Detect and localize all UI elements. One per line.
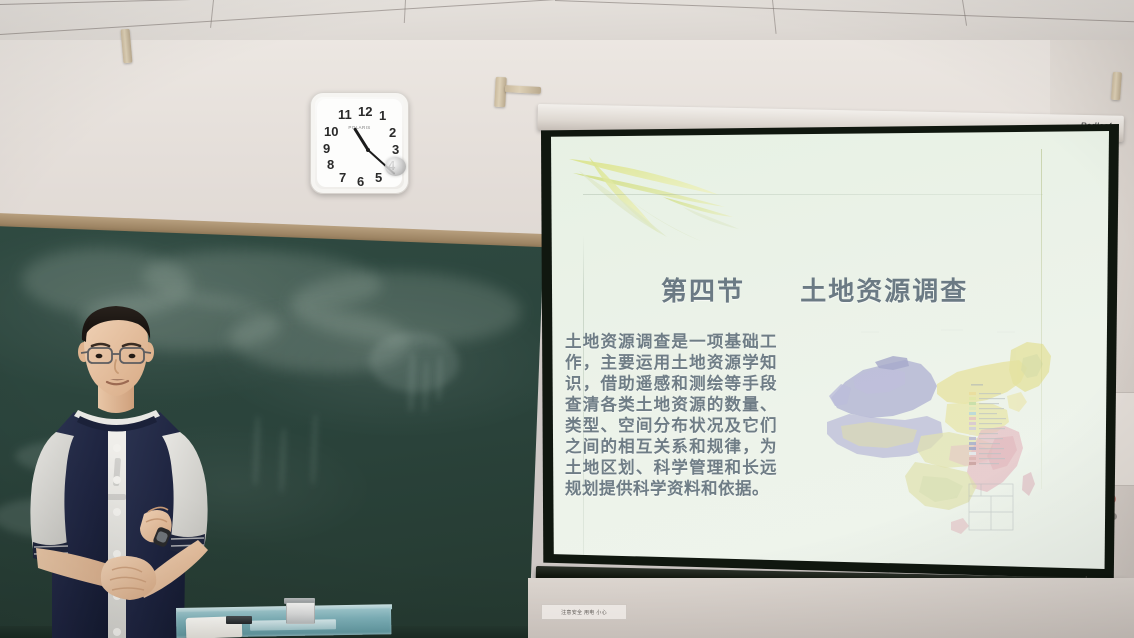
wall-clock: POLARIS 12 1 2 3 4 5 6 7 8 9 10 11	[310, 92, 409, 194]
wall-notice-sign: 注意安全 用电 小心	[541, 604, 627, 620]
ceiling-hook-right	[1111, 72, 1122, 101]
leaf-decoration-icon	[563, 145, 773, 250]
chalk-box[interactable]	[286, 602, 315, 624]
ceiling-hook-mid	[494, 77, 507, 108]
china-map-svg	[801, 326, 1069, 556]
clock-number-1: 1	[379, 109, 386, 122]
clock-number-9: 9	[323, 142, 330, 155]
clock-face: POLARIS 12 1 2 3 4 5 6 7 8 9 10 11	[317, 99, 402, 187]
presentation-slide: 第四节 土地资源调查 土地资源调查是一项基础工作，主要运用土地资源学知识，借助遥…	[551, 131, 1109, 569]
clock-number-3: 3	[392, 143, 399, 156]
clock-number-11: 11	[338, 108, 352, 121]
slide-title: 第四节 土地资源调查	[661, 271, 1081, 308]
clock-brand: POLARIS	[348, 125, 370, 130]
clock-number-6: 6	[357, 175, 364, 188]
china-land-resource-map	[801, 326, 1069, 556]
blackboard-eraser[interactable]	[226, 616, 252, 624]
map-inset-table	[969, 484, 1013, 530]
clock-number-8: 8	[327, 158, 334, 171]
slide-rule-horizontal	[583, 194, 1043, 195]
projection-screen-surface[interactable]: 第四节 土地资源调查 土地资源调查是一项基础工作，主要运用土地资源学知识，借助遥…	[551, 131, 1109, 569]
clock-number-2: 2	[389, 126, 396, 139]
clock-number-5: 5	[375, 171, 382, 184]
clock-center-pin	[366, 148, 370, 152]
slide-body-text: 土地资源调查是一项基础工作，主要运用土地资源学知识，借助遥感和测绘等手段查清各类…	[565, 331, 777, 499]
clock-sub-dial	[385, 157, 406, 176]
teacher-figure	[12, 296, 244, 638]
classroom-scene: POLARIS 12 1 2 3 4 5 6 7 8 9 10 11	[0, 0, 1134, 638]
clock-number-7: 7	[339, 171, 346, 184]
clock-number-10: 10	[324, 125, 338, 138]
clock-number-12: 12	[358, 105, 372, 118]
